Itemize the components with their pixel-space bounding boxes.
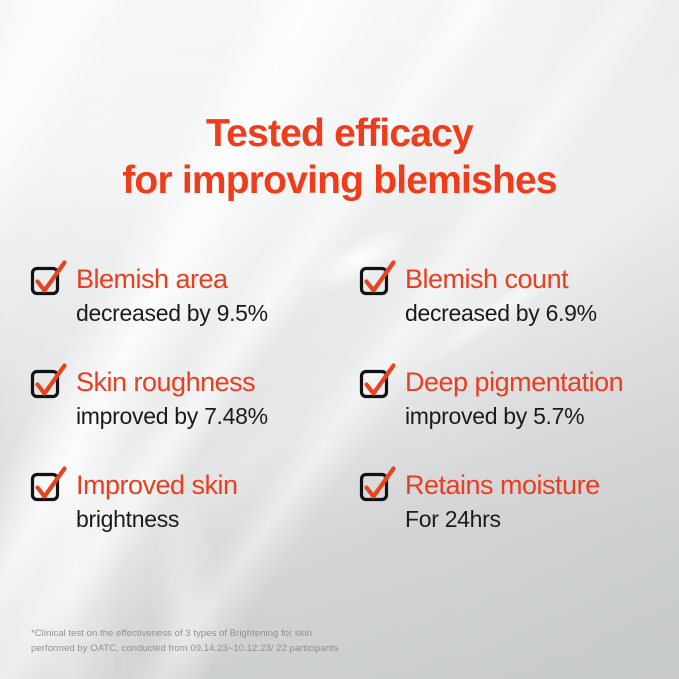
benefit-subtitle: improved by 7.48% [76, 401, 268, 431]
benefit-subtitle: decreased by 9.5% [76, 298, 268, 328]
benefit-title: Deep pigmentation [405, 367, 623, 398]
benefit-text-block: Deep pigmentation improved by 5.7% [405, 367, 623, 431]
benefit-text-block: Retains moisture For 24hrs [405, 470, 600, 534]
benefit-text-block: Blemish area decreased by 9.5% [76, 264, 268, 328]
poster-content: Tested efficacy for improving blemishes … [0, 0, 679, 679]
checked-checkbox-icon [31, 267, 61, 297]
benefit-title: Blemish count [405, 264, 597, 295]
clinical-test-footnote: *Clinical test on the effectiveness of 3… [31, 626, 339, 656]
benefit-item-skin-roughness: Skin roughness improved by 7.48% [31, 367, 360, 470]
benefit-text-block: Blemish count decreased by 6.9% [405, 264, 597, 328]
checked-checkbox-icon [31, 370, 61, 400]
product-efficacy-poster: Tested efficacy for improving blemishes … [0, 0, 679, 679]
benefit-item-blemish-count: Blemish count decreased by 6.9% [360, 264, 651, 367]
checked-checkbox-icon [360, 267, 390, 297]
checked-checkbox-icon [31, 473, 61, 503]
benefit-text-block: Improved skin brightness [76, 470, 238, 534]
benefit-title: Retains moisture [405, 470, 600, 501]
benefit-subtitle: brightness [76, 504, 238, 534]
page-title: Tested efficacy for improving blemishes [0, 110, 679, 204]
checked-checkbox-icon [360, 370, 390, 400]
footnote-line-2: performed by OATC, conducted from 09.14.… [31, 641, 339, 656]
checked-checkbox-icon [360, 473, 390, 503]
benefit-item-retains-moisture: Retains moisture For 24hrs [360, 470, 651, 573]
benefits-grid: Blemish area decreased by 9.5% Blemish c… [31, 264, 651, 573]
benefit-text-block: Skin roughness improved by 7.48% [76, 367, 268, 431]
page-title-line-2: for improving blemishes [0, 157, 679, 204]
benefit-item-deep-pigmentation: Deep pigmentation improved by 5.7% [360, 367, 651, 470]
benefit-title: Improved skin [76, 470, 238, 501]
benefit-item-improved-skin-brightness: Improved skin brightness [31, 470, 360, 573]
benefit-subtitle: improved by 5.7% [405, 401, 623, 431]
benefit-title: Skin roughness [76, 367, 268, 398]
benefit-subtitle: decreased by 6.9% [405, 298, 597, 328]
benefit-title: Blemish area [76, 264, 268, 295]
page-title-line-1: Tested efficacy [0, 110, 679, 157]
footnote-line-1: *Clinical test on the effectiveness of 3… [31, 626, 339, 641]
benefit-subtitle: For 24hrs [405, 504, 600, 534]
benefit-item-blemish-area: Blemish area decreased by 9.5% [31, 264, 360, 367]
